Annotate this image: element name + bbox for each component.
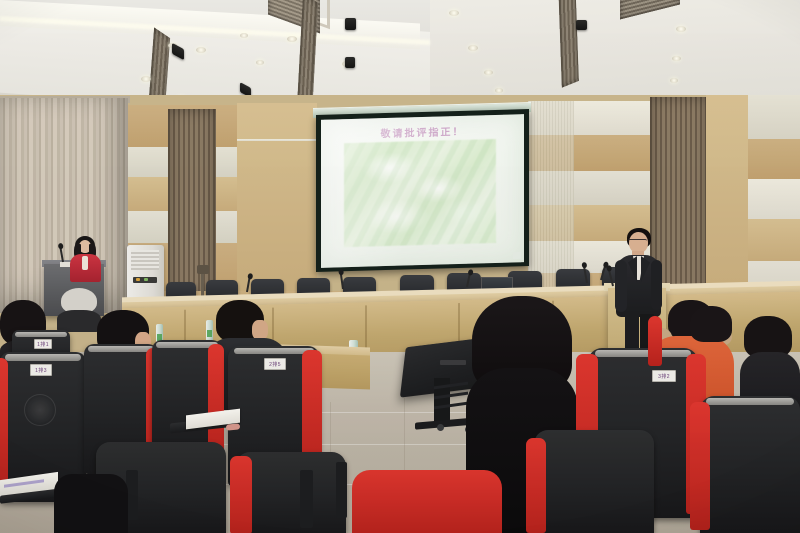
seat-number-plate: 1排1 (34, 339, 52, 349)
downlight-icon (676, 26, 686, 32)
screen-corner-tab (513, 252, 521, 259)
slide-photo-lotus (344, 139, 496, 247)
seat-number-plate: 1排3 (30, 364, 52, 376)
downlight-icon (495, 88, 503, 93)
wall-wood-band (748, 139, 800, 179)
seat-number-plate: 3排2 (652, 370, 676, 382)
ceiling-spotlight-icon (345, 57, 355, 68)
eyeglasses-icon (628, 239, 647, 244)
downlight-icon (468, 45, 478, 51)
downlight-icon (240, 33, 248, 38)
auditorium-seat[interactable] (352, 470, 502, 533)
wall-cream-band (748, 95, 800, 139)
auditorium-seat[interactable] (534, 430, 654, 533)
wall-wood-band (748, 219, 800, 261)
wall-bracket-post (201, 274, 204, 296)
downlight-icon (256, 60, 264, 65)
panel-seam (237, 139, 317, 141)
auditorium-seat[interactable] (236, 452, 346, 533)
auditorium-seat[interactable] (700, 396, 800, 533)
ceiling-spotlight-icon (576, 20, 587, 30)
downlight-icon (484, 70, 493, 75)
projection-screen[interactable]: 敬请批评指正！ (321, 114, 524, 268)
downlight-icon (196, 47, 206, 53)
ceiling-grille-strip-3 (558, 0, 579, 88)
conference-hall-photo: 敬请批评指正！ (0, 0, 800, 533)
seat-pedestal (300, 470, 313, 528)
display-label (440, 360, 466, 365)
downlight-icon (141, 76, 151, 82)
wall-bracket (197, 265, 209, 274)
moderator-person (68, 236, 102, 280)
auditorium-seat[interactable] (648, 316, 710, 368)
ac-led-indicator (144, 278, 148, 281)
wall-cream-band (748, 179, 800, 219)
ceiling-spotlight-icon (345, 18, 356, 30)
wall-wood-panel-right (706, 95, 750, 309)
ac-vent-grille-icon (131, 250, 159, 270)
downlight-icon (449, 10, 459, 16)
downlight-icon (672, 56, 681, 61)
ac-led-indicator (136, 278, 140, 281)
seat-number-plate: 2排5 (264, 358, 286, 370)
downlight-icon (287, 36, 297, 42)
audience-person (54, 474, 128, 533)
seat-pedestal (336, 462, 347, 518)
downlight-icon (670, 78, 678, 83)
cart-caster-icon (437, 424, 444, 431)
wall-wood-panel (237, 103, 317, 299)
